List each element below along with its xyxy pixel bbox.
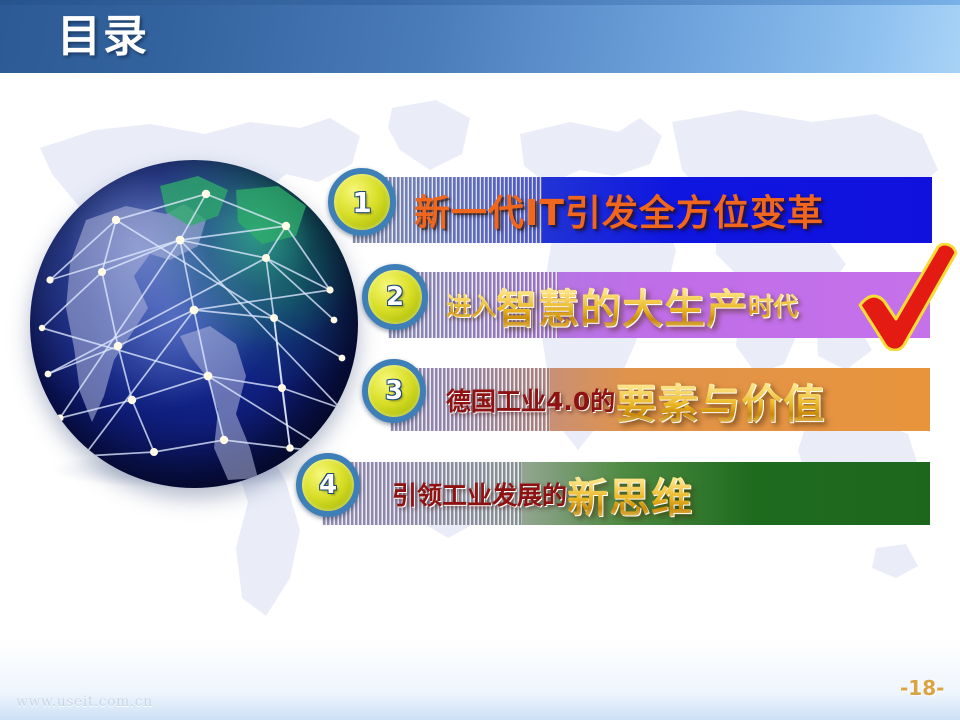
globe-sphere	[30, 160, 358, 488]
agenda-bar-2-label-row: 进入 智慧的大生产 时代	[388, 272, 930, 338]
page-title: 目录	[57, 12, 149, 62]
agenda-bar-3-label-row: 德国工业4.0的 要素与价值	[390, 368, 930, 431]
agenda-bar-1-label-row: 新一代IT引发全方位变革	[352, 177, 932, 243]
agenda-item-2-text-suffix: 时代	[748, 287, 798, 323]
agenda-item-4[interactable]: 引领工业发展的 新思维 4	[322, 462, 930, 525]
agenda-number-badge-2: 2	[362, 264, 428, 330]
agenda-item-3-text-prefix: 德国工业4.0的	[446, 382, 615, 418]
agenda-number-badge-1: 1	[328, 168, 396, 236]
agenda-number-badge-4: 4	[296, 453, 360, 517]
slide-canvas: 目录	[0, 0, 960, 720]
page-number: -18-	[900, 676, 944, 700]
agenda-item-2-text: 智慧的大生产	[496, 275, 748, 335]
agenda-item-4-text-prefix: 引领工业发展的	[392, 476, 567, 512]
agenda-item-2[interactable]: 进入 智慧的大生产 时代 2	[388, 272, 930, 338]
header-top-strip	[0, 0, 960, 5]
agenda-item-1-text: 新一代IT引发全方位变革	[414, 184, 824, 236]
agenda-item-4-text: 新思维	[567, 464, 693, 524]
agenda-item-1[interactable]: 新一代IT引发全方位变革 1	[352, 177, 932, 243]
agenda-item-2-text-prefix: 进入	[446, 287, 496, 323]
agenda-bar-4-label-row: 引领工业发展的 新思维	[322, 462, 930, 525]
agenda-item-3[interactable]: 德国工业4.0的 要素与价值 3	[390, 368, 930, 431]
agenda-item-3-text: 要素与价值	[615, 370, 825, 430]
network-globe-icon	[22, 152, 367, 502]
agenda-number-badge-3: 3	[362, 359, 426, 423]
site-watermark: www.useit.com.cn	[16, 694, 153, 710]
